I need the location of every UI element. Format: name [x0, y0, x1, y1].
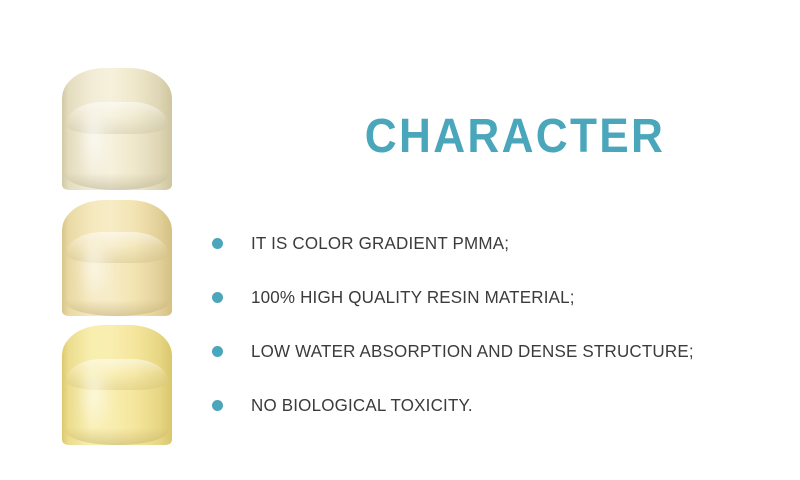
product-image-pmma-cap-ivory [62, 68, 172, 190]
feature-bullet-list: IT IS COLOR GRADIENT PMMA; 100% HIGH QUA… [212, 216, 752, 432]
cap-cylinder-shading [62, 325, 172, 445]
cap-body [62, 68, 172, 190]
product-image-pmma-cap-cream [62, 200, 172, 316]
cap-cylinder-shading [62, 68, 172, 190]
bullet-dot-icon [212, 400, 223, 411]
bullet-dot-icon [212, 292, 223, 303]
cap-cylinder-shading [62, 200, 172, 316]
feature-text-column: CHARACTER IT IS COLOR GRADIENT PMMA; 100… [200, 0, 800, 480]
bullet-dot-icon [212, 346, 223, 357]
bullet-dot-icon [212, 238, 223, 249]
list-item: 100% HIGH QUALITY RESIN MATERIAL; [212, 270, 752, 324]
list-item: IT IS COLOR GRADIENT PMMA; [212, 216, 752, 270]
list-item-label: NO BIOLOGICAL TOXICITY. [251, 395, 737, 416]
page-title: CHARACTER [349, 112, 680, 162]
product-image-gallery [0, 0, 200, 480]
list-item-label: LOW WATER ABSORPTION AND DENSE STRUCTURE… [251, 341, 737, 362]
list-item-label: 100% HIGH QUALITY RESIN MATERIAL; [251, 287, 737, 308]
product-image-pmma-cap-yellow [62, 325, 172, 445]
list-item: LOW WATER ABSORPTION AND DENSE STRUCTURE… [212, 324, 752, 378]
list-item: NO BIOLOGICAL TOXICITY. [212, 378, 752, 432]
product-feature-slide: CHARACTER IT IS COLOR GRADIENT PMMA; 100… [0, 0, 800, 480]
list-item-label: IT IS COLOR GRADIENT PMMA; [251, 233, 737, 254]
cap-body [62, 325, 172, 445]
cap-body [62, 200, 172, 316]
